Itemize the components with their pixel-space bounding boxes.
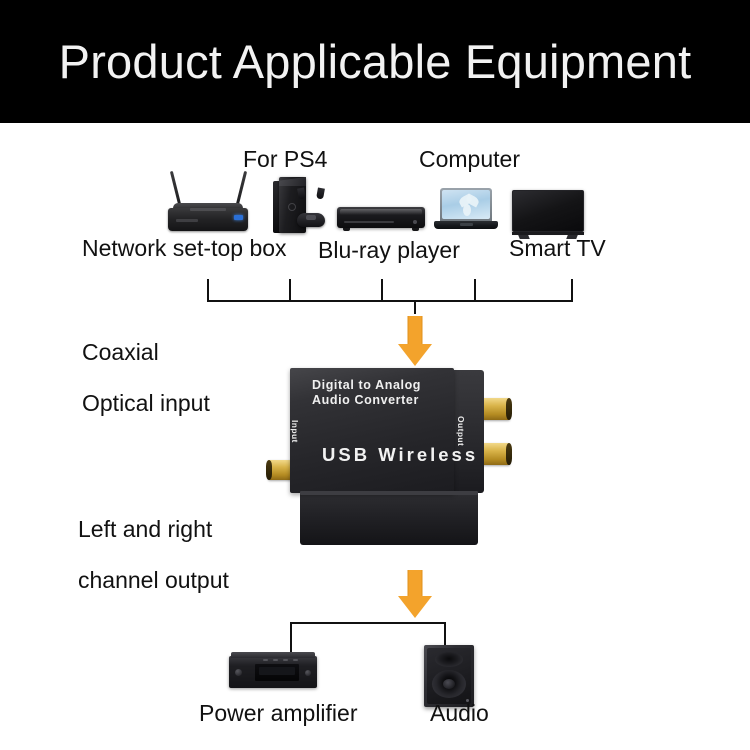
- laptop-lid: [440, 188, 492, 221]
- converter-model-label: USB Wireless: [322, 444, 478, 466]
- label-computer: Computer: [419, 146, 520, 173]
- bluray-foot-left: [343, 228, 350, 231]
- converter-lower-housing: [300, 493, 478, 545]
- laptop-screen: [442, 190, 490, 219]
- router-brand-mark: [190, 208, 226, 211]
- dac-converter-device: Digital to Analog Audio Converter USB Wi…: [290, 368, 495, 550]
- down-arrow-icon-upper: [398, 316, 432, 366]
- amplifier-volume-knob: [235, 669, 242, 676]
- bluray-power-led: [413, 220, 417, 224]
- controller-grip-right: [316, 187, 325, 199]
- converter-output-side-label: Output: [456, 416, 466, 446]
- converter-input-side-label: Input: [290, 420, 300, 443]
- label-coaxial: Coaxial: [82, 339, 159, 366]
- speaker-icon: [424, 645, 474, 707]
- bluray-disc-tray: [344, 221, 394, 223]
- bluray-gloss-highlight: [340, 209, 422, 215]
- router-status-led: [234, 215, 243, 220]
- label-power-amplifier: Power amplifier: [199, 700, 358, 727]
- smart-tv-icon: [512, 190, 584, 240]
- speaker-woofer: [432, 670, 466, 698]
- power-amplifier-icon: [229, 652, 317, 692]
- amplifier-display: [259, 667, 295, 675]
- rca-jack-output-1: [480, 398, 510, 420]
- converter-product-name: Digital to Analog Audio Converter: [312, 378, 421, 408]
- converter-seam-edge: [300, 491, 478, 495]
- header-banner: Product Applicable Equipment: [0, 0, 750, 123]
- label-channel-output: channel output: [78, 567, 229, 594]
- label-for-ps4: For PS4: [243, 146, 327, 173]
- rca-jack-output-2: [480, 443, 510, 465]
- blu-ray-player-icon: [337, 197, 425, 235]
- label-audio: Audio: [430, 700, 489, 727]
- label-optical-input: Optical input: [82, 390, 210, 417]
- laptop-computer-icon: [434, 188, 498, 232]
- laptop-trackpad: [460, 223, 473, 226]
- label-blu-ray-player: Blu-ray player: [318, 237, 460, 264]
- amplifier-top-face: [231, 652, 315, 658]
- wallpaper-leaf-center: [463, 204, 471, 216]
- amplifier-selector-knob: [305, 670, 311, 676]
- ps4-console-icon: [271, 177, 331, 235]
- label-smart-tv: Smart TV: [509, 235, 606, 262]
- page-title: Product Applicable Equipment: [0, 0, 750, 123]
- converter-product-name-line2: Audio Converter: [312, 393, 421, 408]
- ps4-power-logo: [288, 203, 296, 211]
- speaker-tweeter: [435, 652, 463, 667]
- dualshock-controller-icon: [297, 213, 325, 227]
- down-arrow-icon-lower: [398, 570, 432, 620]
- router-logo-mark: [176, 219, 198, 222]
- converter-product-name-line1: Digital to Analog: [312, 378, 421, 393]
- label-left-and-right: Left and right: [78, 516, 212, 543]
- tv-screen-panel: [512, 190, 584, 232]
- infographic-page: Product Applicable Equipment For PS4 Com…: [0, 0, 750, 750]
- label-network-set-top-box: Network set-top box: [82, 235, 287, 262]
- network-set-top-box-icon: [168, 182, 248, 234]
- bluray-foot-right: [412, 228, 419, 231]
